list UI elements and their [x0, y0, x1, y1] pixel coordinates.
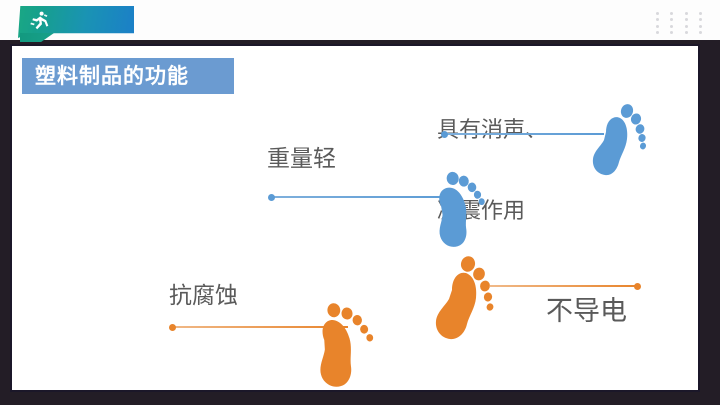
- top-strip: [0, 0, 720, 40]
- callout-label-sound-damping-line1: 具有消声、: [437, 117, 547, 144]
- callout-label-light-weight: 重量轻: [267, 145, 336, 174]
- connector-sound-damping: [442, 133, 604, 135]
- connector-line: [442, 133, 604, 135]
- footprint-top-blue: [586, 98, 648, 182]
- connector-dot: [634, 283, 641, 290]
- connector-dot: [268, 194, 275, 201]
- presentation-screen: 塑料制品的功能 具有消声、 减震作用 重量轻 抗腐蚀 不导电: [0, 0, 720, 405]
- running-person-icon: [27, 10, 51, 34]
- connector-line: [490, 285, 640, 287]
- footprint-mid-orange: [424, 250, 496, 346]
- footprint-mid-blue: [416, 168, 500, 252]
- dot-grid-icon: [650, 10, 708, 36]
- connector-dot: [169, 324, 176, 331]
- callout-label-non-conductive: 不导电: [546, 295, 627, 328]
- connector-dot: [441, 131, 448, 138]
- slide-canvas: 塑料制品的功能 具有消声、 减震作用 重量轻 抗腐蚀 不导电: [12, 46, 698, 390]
- footprint-low-orange: [295, 298, 387, 390]
- logo-banner-tail: [20, 33, 54, 42]
- page-title-text: 塑料制品的功能: [35, 66, 189, 87]
- connector-non-conductive: [490, 285, 640, 287]
- callout-label-corrosion-resistant: 抗腐蚀: [169, 282, 238, 311]
- page-title: 塑料制品的功能: [22, 58, 234, 94]
- slide-frame: 塑料制品的功能 具有消声、 减震作用 重量轻 抗腐蚀 不导电: [10, 44, 700, 392]
